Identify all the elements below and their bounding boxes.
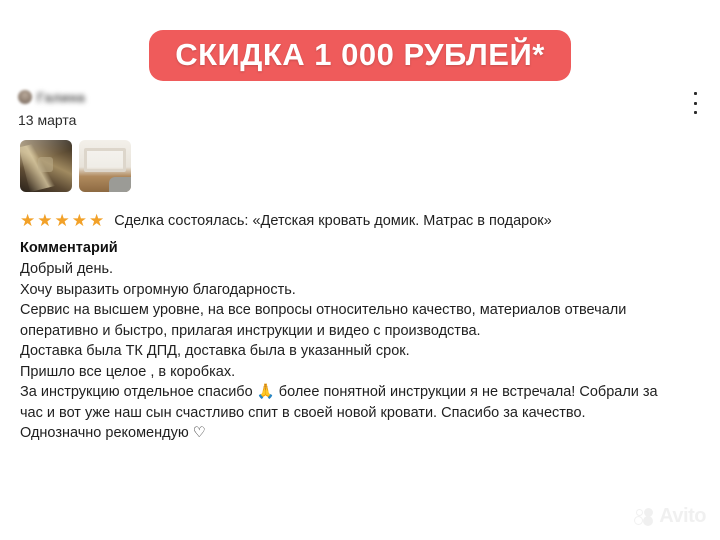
review-photo-thumbnail[interactable] (79, 140, 131, 192)
comment-line: оперативно и быстро, прилагая инструкции… (20, 321, 710, 342)
star-icon: ★ (55, 212, 70, 229)
comment-line: Сервис на высшем уровне, на все вопросы … (20, 300, 710, 321)
review-header: Галина 13 марта (18, 88, 702, 128)
review-date: 13 марта (18, 112, 702, 128)
comment-line: За инструкцию отдельное спасибо 🙏 более … (20, 382, 710, 403)
avito-watermark: Avito (634, 505, 706, 528)
promo-banner-text: СКИДКА 1 000 РУБЛЕЙ* (175, 39, 545, 70)
avito-logo-circle-1 (634, 516, 643, 525)
rating-stars: ★ ★ ★ ★ ★ (20, 212, 104, 229)
star-icon: ★ (20, 212, 35, 229)
star-icon: ★ (89, 212, 104, 229)
comment-line: Пришло все целое , в коробках. (20, 362, 710, 383)
kebab-dot-3 (694, 111, 697, 114)
comment-line: Доставка была ТК ДПД, доставка была в ук… (20, 341, 710, 362)
avito-logo-circle-2 (636, 509, 643, 516)
avito-watermark-text: Avito (659, 505, 706, 528)
comment-line: Однозначно рекомендую ♡ (20, 423, 710, 444)
review-photo-thumbnail[interactable] (20, 140, 72, 192)
deal-row: ★ ★ ★ ★ ★ Сделка состоялась: «Детская кр… (20, 212, 552, 229)
review-comment: Комментарий Добрый день. Хочу выразить о… (20, 240, 710, 444)
avito-logo-circle-4 (643, 516, 653, 526)
promo-banner-wrap: СКИДКА 1 000 РУБЛЕЙ* (0, 30, 720, 81)
review-author-name: Галина (37, 90, 85, 105)
comment-line: час и вот уже наш сын счастливо спит в с… (20, 403, 710, 424)
star-icon: ★ (72, 212, 87, 229)
review-photos (20, 140, 131, 192)
kebab-dot-1 (694, 92, 697, 95)
promo-banner: СКИДКА 1 000 РУБЛЕЙ* (149, 30, 571, 81)
kebab-dot-2 (694, 102, 697, 105)
avito-logo-icon (634, 508, 654, 526)
review-author-row: Галина (18, 88, 702, 106)
star-icon: ★ (37, 212, 52, 229)
deal-title: Сделка состоялась: «Детская кровать доми… (114, 213, 551, 229)
comment-line: Добрый день. (20, 259, 710, 280)
avatar (18, 90, 32, 104)
comment-heading: Комментарий (20, 240, 710, 256)
comment-line: Хочу выразить огромную благодарность. (20, 280, 710, 301)
kebab-menu-icon[interactable] (686, 90, 704, 116)
